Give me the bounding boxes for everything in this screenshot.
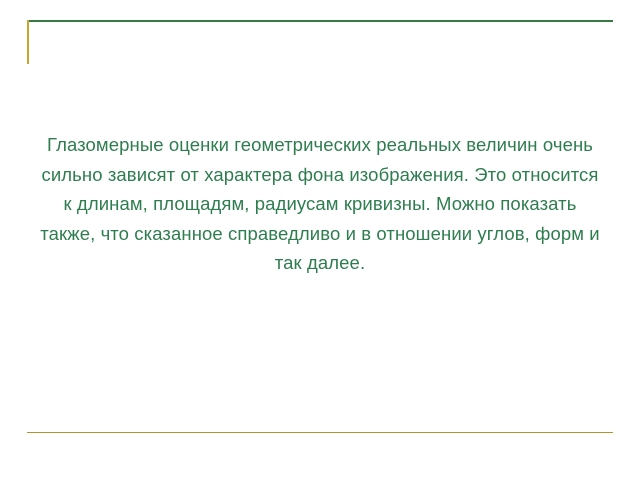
bottom-horizontal-rule bbox=[27, 432, 613, 433]
top-left-vertical-rule bbox=[27, 20, 29, 64]
slide-canvas: Глазомерные оценки геометрических реальн… bbox=[0, 0, 640, 480]
slide-body-text: Глазомерные оценки геометрических реальн… bbox=[36, 130, 604, 278]
top-horizontal-rule bbox=[27, 20, 613, 22]
